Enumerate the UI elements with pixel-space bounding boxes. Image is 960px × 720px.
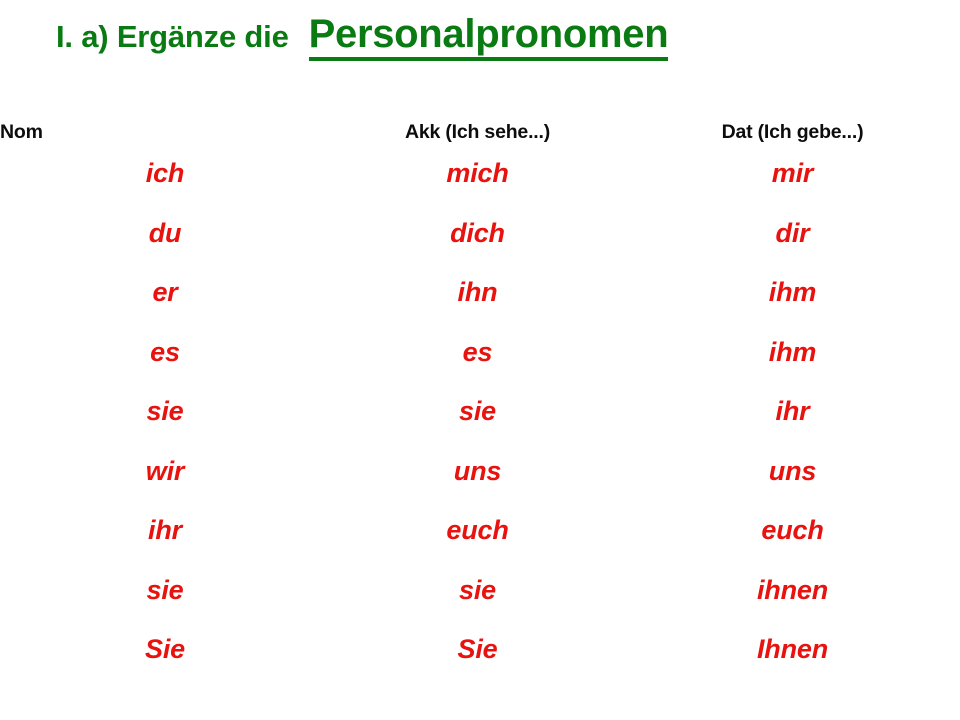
cell-nominative: es: [0, 323, 330, 383]
column-header-accusative: Akk (Ich sehe...): [330, 100, 625, 144]
column-header-nominative: Nom: [0, 100, 330, 144]
cell-accusative: ihn: [330, 263, 625, 323]
cell-dative: dir: [625, 204, 960, 264]
table-row: ichmichmir: [0, 144, 960, 204]
table-row: siesieihnen: [0, 561, 960, 621]
cell-accusative: Sie: [330, 620, 625, 680]
cell-accusative: sie: [330, 561, 625, 621]
cell-dative: ihm: [625, 323, 960, 383]
slide-canvas: I. a) Ergänze die Personalpronomen Nom A…: [0, 0, 960, 720]
table-row: wirunsuns: [0, 442, 960, 502]
cell-accusative: es: [330, 323, 625, 383]
cell-nominative: ich: [0, 144, 330, 204]
cell-nominative: Sie: [0, 620, 330, 680]
cell-accusative: mich: [330, 144, 625, 204]
cell-accusative: dich: [330, 204, 625, 264]
cell-dative: euch: [625, 501, 960, 561]
cell-nominative: du: [0, 204, 330, 264]
cell-dative: mir: [625, 144, 960, 204]
cell-dative: ihr: [625, 382, 960, 442]
cell-accusative: sie: [330, 382, 625, 442]
title-keyword-personalpronomen: Personalpronomen: [309, 14, 669, 61]
table-row: ihreucheuch: [0, 501, 960, 561]
cell-dative: uns: [625, 442, 960, 502]
table-row: siesieihr: [0, 382, 960, 442]
cell-accusative: euch: [330, 501, 625, 561]
title-lead-text: I. a) Ergänze die: [56, 21, 289, 52]
table-row: SieSieIhnen: [0, 620, 960, 680]
cell-nominative: sie: [0, 561, 330, 621]
page-title: I. a) Ergänze die Personalpronomen: [56, 14, 916, 76]
cell-dative: ihm: [625, 263, 960, 323]
cell-dative: Ihnen: [625, 620, 960, 680]
column-header-dative: Dat (Ich gebe...): [625, 100, 960, 144]
table-body: ichmichmirdudichdirerihnihmesesihmsiesie…: [0, 144, 960, 680]
cell-dative: ihnen: [625, 561, 960, 621]
table-row: erihnihm: [0, 263, 960, 323]
cell-accusative: uns: [330, 442, 625, 502]
cell-nominative: ihr: [0, 501, 330, 561]
table-header-row: Nom Akk (Ich sehe...) Dat (Ich gebe...): [0, 100, 960, 144]
cell-nominative: wir: [0, 442, 330, 502]
cell-nominative: sie: [0, 382, 330, 442]
table-row: esesihm: [0, 323, 960, 383]
cell-nominative: er: [0, 263, 330, 323]
table-row: dudichdir: [0, 204, 960, 264]
pronoun-table: Nom Akk (Ich sehe...) Dat (Ich gebe...) …: [0, 100, 960, 680]
